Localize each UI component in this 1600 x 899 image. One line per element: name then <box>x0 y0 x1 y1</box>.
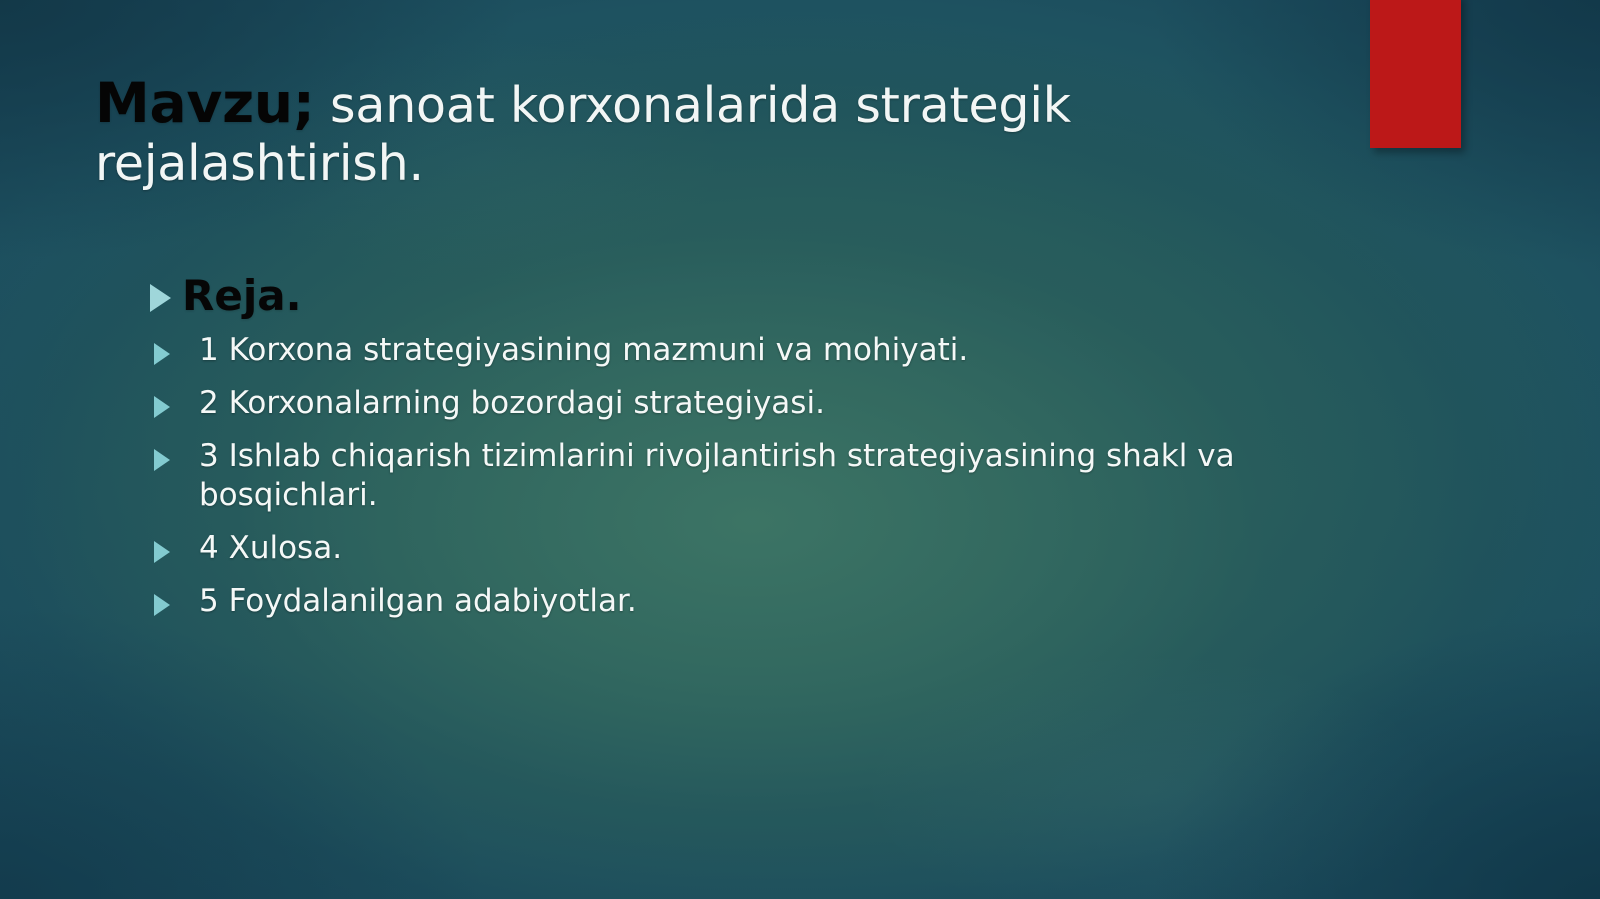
triangle-right-icon <box>150 284 171 312</box>
triangle-right-icon <box>154 396 170 418</box>
slide-title: Mavzu; sanoat korxonalarida strategik re… <box>95 72 1275 193</box>
list-item-label: 1 Korxona strategiyasining mazmuni va mo… <box>199 331 968 370</box>
list-item: 3 Ishlab chiqarish tizimlarini rivojlant… <box>150 437 1330 515</box>
list-item-label: 4 Xulosa. <box>199 529 342 568</box>
list-item: 2 Korxonalarning bozordagi strategiyasi. <box>150 384 1330 423</box>
triangle-right-icon <box>154 594 170 616</box>
list-item-label: 2 Korxonalarning bozordagi strategiyasi. <box>199 384 825 423</box>
outline-heading-row: Reja. <box>150 272 1330 319</box>
presentation-slide: Mavzu; sanoat korxonalarida strategik re… <box>0 0 1600 899</box>
list-item-label: 3 Ishlab chiqarish tizimlarini rivojlant… <box>199 437 1330 515</box>
red-accent-rectangle <box>1370 0 1461 148</box>
list-item: 5 Foydalanilgan adabiyotlar. <box>150 582 1330 621</box>
list-item-label: 5 Foydalanilgan adabiyotlar. <box>199 582 637 621</box>
list-item: 4 Xulosa. <box>150 529 1330 568</box>
list-item: 1 Korxona strategiyasining mazmuni va mo… <box>150 331 1330 370</box>
title-lead-text: Mavzu; <box>95 71 315 135</box>
slide-outline-list: Reja. 1 Korxona strategiyasining mazmuni… <box>150 272 1330 635</box>
triangle-right-icon <box>154 449 170 471</box>
triangle-right-icon <box>154 541 170 563</box>
outline-heading-label: Reja. <box>182 272 302 319</box>
triangle-right-icon <box>154 343 170 365</box>
